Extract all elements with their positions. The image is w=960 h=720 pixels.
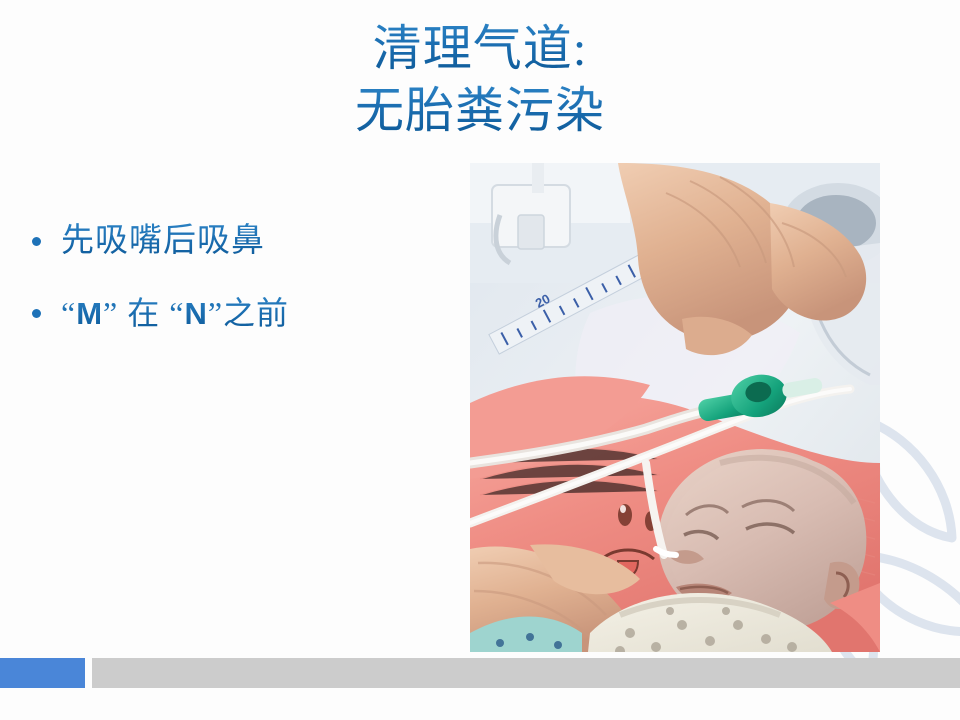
footer-bar bbox=[92, 658, 960, 688]
slide-title: 清理气道: 无胎粪污染 bbox=[0, 18, 960, 142]
bullet-tail-text: 之前 bbox=[223, 295, 289, 331]
bullet-dot-icon bbox=[32, 309, 41, 318]
bullet-dot-icon bbox=[32, 237, 41, 246]
quote-open-2: “ bbox=[169, 295, 184, 331]
title-line-2: 无胎粪污染 bbox=[0, 80, 960, 142]
quote-open-1: “ bbox=[61, 295, 76, 331]
bullet-item-2: “M” 在 “N”之前 bbox=[32, 290, 452, 337]
letter-n: N bbox=[184, 296, 207, 331]
slide-canvas: 清理气道: 无胎粪污染 先吸嘴后吸鼻 “M” 在 “N”之前 bbox=[0, 0, 960, 720]
footer-accent-block bbox=[0, 658, 85, 688]
newborn-suction-photo: 20 bbox=[470, 163, 880, 652]
quote-close-2: ” bbox=[208, 295, 223, 331]
letter-m: M bbox=[76, 296, 103, 331]
title-line-1: 清理气道: bbox=[0, 18, 960, 80]
bullet-list: 先吸嘴后吸鼻 “M” 在 “N”之前 bbox=[32, 218, 452, 363]
bullet-text-1: 先吸嘴后吸鼻 bbox=[61, 218, 265, 264]
bullet-text-2: “M” 在 “N”之前 bbox=[61, 290, 289, 337]
quote-close-1: ” bbox=[103, 295, 118, 331]
bullet-middle-text: 在 bbox=[118, 295, 169, 331]
bullet-item-1: 先吸嘴后吸鼻 bbox=[32, 218, 452, 264]
